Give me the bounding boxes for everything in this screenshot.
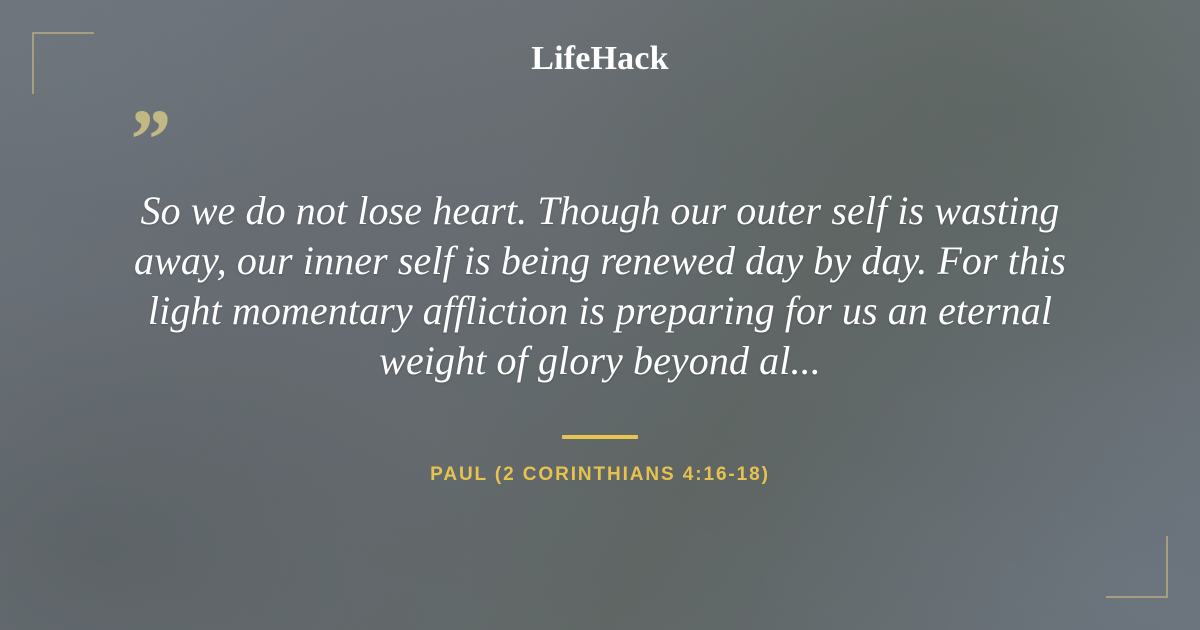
quote-attribution: PAUL (2 CORINTHIANS 4:16-18) (0, 464, 1200, 486)
quote-divider (562, 435, 638, 439)
quote-text: So we do not lose heart. Though our oute… (100, 186, 1100, 386)
brand-logo: LifeHack (0, 42, 1200, 76)
quote-mark-icon: ” (126, 96, 169, 182)
divider-wrap (0, 435, 1200, 439)
quote-block: So we do not lose heart. Though our oute… (100, 186, 1100, 386)
corner-bracket-bottom-right (1106, 536, 1168, 598)
quote-card: LifeHack ” So we do not lose heart. Thou… (0, 0, 1200, 630)
